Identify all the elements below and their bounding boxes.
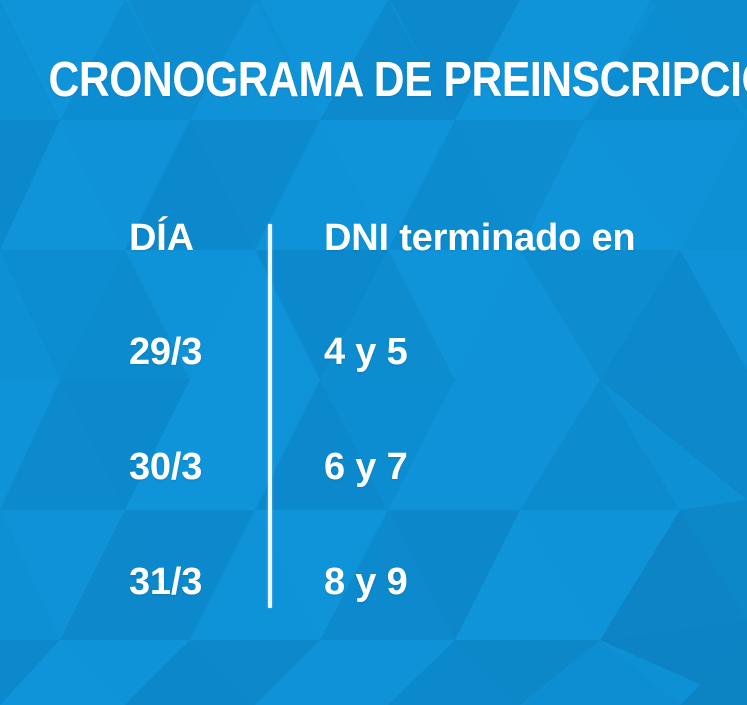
page-title: CRONOGRAMA DE PREINSCRIPCIÓN: [49, 52, 699, 108]
column-divider: [268, 224, 272, 608]
table-row: 30/3 6 y 7: [0, 437, 747, 497]
cell-day: 31/3: [129, 552, 269, 612]
column-header-day: DÍA: [129, 208, 269, 268]
preinscription-schedule-poster: CRONOGRAMA DE PREINSCRIPCIÓN DÍA DNI ter…: [0, 0, 747, 705]
schedule-table: DÍA DNI terminado en 29/3 4 y 5 30/3 6 y…: [0, 200, 747, 620]
table-row: 31/3 8 y 9: [0, 552, 747, 612]
table-row: 29/3 4 y 5: [0, 322, 747, 382]
cell-day: 30/3: [129, 437, 269, 497]
cell-day: 29/3: [129, 322, 269, 382]
cell-dni: 8 y 9: [324, 552, 724, 612]
column-header-dni: DNI terminado en: [324, 208, 724, 268]
cell-dni: 6 y 7: [324, 437, 724, 497]
cell-dni: 4 y 5: [324, 322, 724, 382]
table-header-row: DÍA DNI terminado en: [0, 208, 747, 268]
